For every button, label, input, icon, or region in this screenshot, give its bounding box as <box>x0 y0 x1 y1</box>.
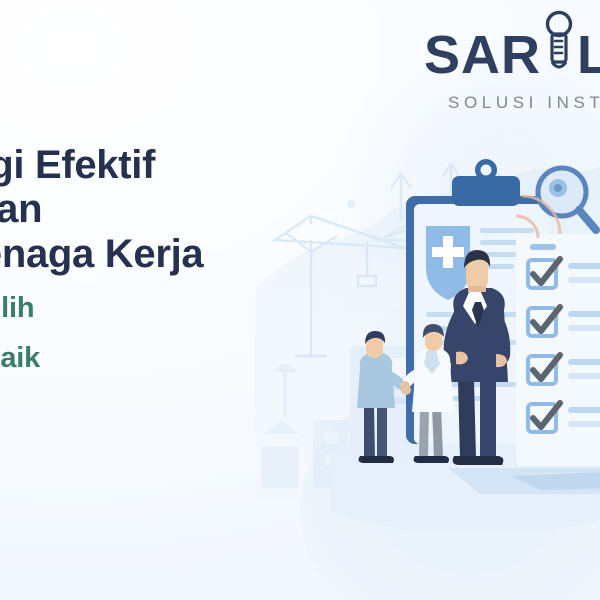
shoe <box>478 456 503 465</box>
shoe <box>453 456 478 465</box>
brand-letter-l: L <box>577 28 600 82</box>
shoe <box>432 456 449 463</box>
subheadline-line-2: or Terbaik <box>0 342 384 376</box>
thermometer-icon <box>542 10 576 70</box>
headline-line-3: as Tenaga Kerja <box>0 232 384 276</box>
brand-tagline: SOLUSI INSTR <box>448 93 600 113</box>
shoe <box>359 456 378 463</box>
brand-letter-s: S <box>424 28 461 82</box>
shoe <box>377 456 394 463</box>
shoe <box>414 456 432 463</box>
banner-canvas: trategi Efektif gadaan as Tenaga Kerja k… <box>0 0 600 600</box>
clipboard-clip-hole <box>481 165 492 176</box>
brand-letter-r: R <box>501 28 541 82</box>
headline-block: trategi Efektif gadaan as Tenaga Kerja k… <box>0 143 384 376</box>
subheadline-line-1: k Memilih <box>0 292 384 326</box>
brand-letter-a: A <box>461 28 501 82</box>
hand <box>400 381 410 391</box>
brand-wordmark: S A R L <box>424 26 600 84</box>
neck <box>468 286 486 292</box>
checklist-top-tab <box>530 244 556 250</box>
brand-logo[interactable]: S A R L SOLUSI INSTR <box>424 26 600 113</box>
headline-line-2: gadaan <box>0 187 384 231</box>
checklist-card <box>516 234 600 466</box>
headline-line-1: trategi Efektif <box>0 143 384 187</box>
